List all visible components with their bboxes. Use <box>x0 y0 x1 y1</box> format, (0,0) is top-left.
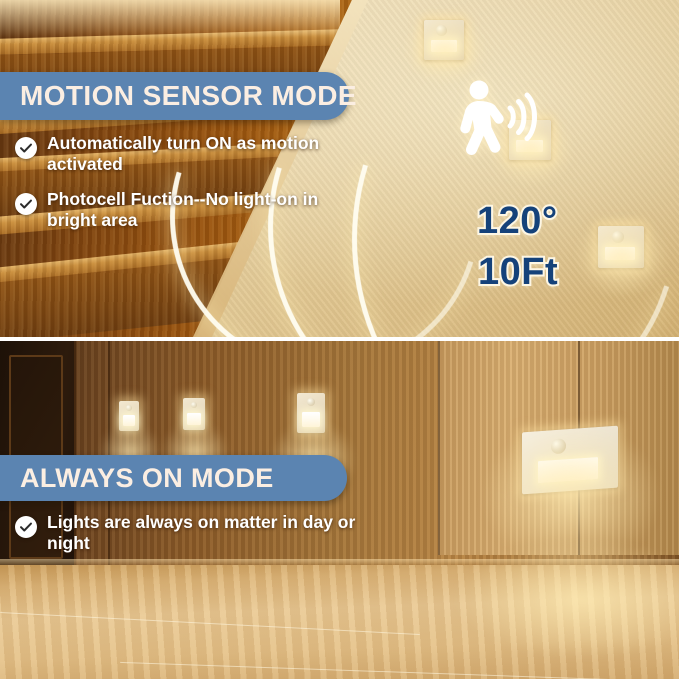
hallway-scene <box>0 341 679 679</box>
badge-always-on-mode-label: ALWAYS ON MODE <box>0 463 274 494</box>
feature-list-always-on: Lights are always on matter in day or ni… <box>0 512 367 568</box>
badge-motion-sensor-mode[interactable]: MOTION SENSOR MODE <box>0 72 349 120</box>
pir-sensor-dome <box>307 398 315 406</box>
list-item: Automatically turn ON as motion activate… <box>0 133 347 175</box>
list-item: Photocell Fuction--No light-on in bright… <box>0 189 347 231</box>
detection-angle-value: 120° <box>477 200 558 243</box>
list-item-label: Lights are always on matter in day or ni… <box>47 512 367 554</box>
pir-sensor-dome <box>126 405 132 411</box>
check-circle-icon <box>15 137 37 159</box>
check-circle-icon <box>15 516 37 538</box>
list-item-label: Automatically turn ON as motion activate… <box>47 133 347 175</box>
badge-always-on-mode[interactable]: ALWAYS ON MODE <box>0 455 347 501</box>
walking-person-motion-icon <box>449 78 541 162</box>
list-item-label: Photocell Fuction--No light-on in bright… <box>47 189 347 231</box>
panel-always-on-mode: ALWAYS ON MODE Lights are always on matt… <box>0 341 679 679</box>
check-circle-icon <box>15 193 37 215</box>
badge-motion-sensor-mode-label: MOTION SENSOR MODE <box>0 80 357 112</box>
detection-distance-value: 10Ft <box>478 251 558 294</box>
pir-sensor-dome <box>191 402 197 408</box>
list-item: Lights are always on matter in day or ni… <box>0 512 367 554</box>
wall-seam <box>438 341 440 555</box>
feature-list-motion: Automatically turn ON as motion activate… <box>0 133 347 245</box>
top-light-wash <box>0 0 340 38</box>
infographic-stage: 120° 10Ft MOTION SENSOR MODE Automatical… <box>0 0 679 679</box>
panel-motion-sensor-mode: 120° 10Ft MOTION SENSOR MODE Automatical… <box>0 0 679 337</box>
